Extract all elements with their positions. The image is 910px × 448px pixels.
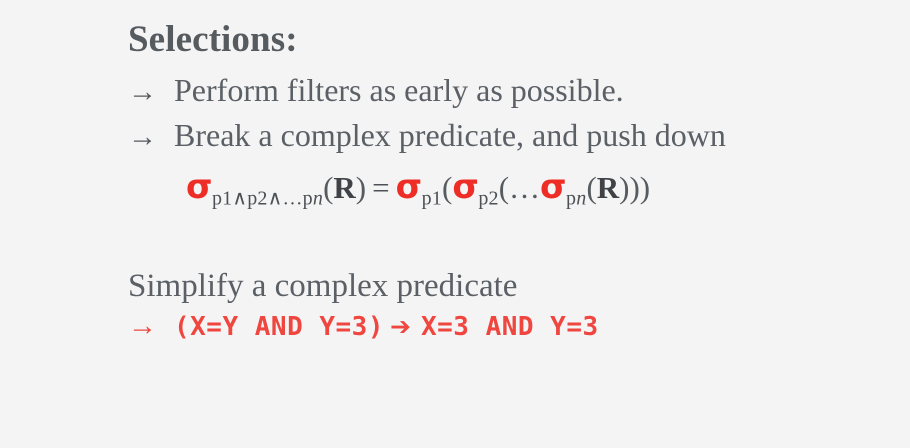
sigma-icon: σ bbox=[396, 167, 422, 207]
simplify-statement: Simplify a complex predicate bbox=[128, 265, 870, 308]
sigma-icon: σ bbox=[452, 167, 478, 207]
bullet-item-1-label: Perform filters as early as possible. bbox=[174, 68, 624, 113]
arrow-right-icon: → bbox=[128, 123, 174, 152]
bullet-item-2: → Break a complex predicate, and push do… bbox=[128, 113, 870, 158]
arrow-right-icon: → bbox=[128, 78, 174, 107]
implies-arrow-icon: ➔ bbox=[384, 312, 421, 341]
sigma-icon: σ bbox=[186, 167, 212, 207]
formula-rhs-subscript-1: p1 bbox=[422, 187, 442, 209]
sigma-icon: σ bbox=[540, 167, 566, 207]
section-spacer bbox=[128, 211, 870, 265]
slide-canvas: Selections: → Perform filters as early a… bbox=[0, 0, 910, 448]
formula-open-paren: ( bbox=[586, 170, 596, 205]
formula-relation: R bbox=[597, 170, 619, 205]
formula-ellipsis: … bbox=[509, 170, 540, 205]
formula-close-paren: ) bbox=[356, 170, 366, 205]
formula-open-paren: ( bbox=[323, 170, 333, 205]
predicate-simplification-example: → (X=Y AND Y=3) ➔ X=3 AND Y=3 bbox=[128, 312, 870, 342]
selection-pushdown-formula: σp1∧p2∧…pn(R)=σp1(σp2(…σpn(R))) bbox=[128, 165, 870, 211]
formula-equals: = bbox=[366, 170, 395, 205]
formula-open-paren: ( bbox=[442, 170, 452, 205]
formula-rhs-subscript-n: pn bbox=[566, 187, 586, 209]
formula-rhs-subscript-2: p2 bbox=[478, 187, 498, 209]
predicate-right-expression: X=3 AND Y=3 bbox=[421, 312, 599, 342]
formula-open-paren: ( bbox=[499, 170, 509, 205]
page-title: Selections: bbox=[128, 18, 870, 62]
formula-close-parens: ))) bbox=[619, 170, 650, 205]
arrow-right-icon: → bbox=[128, 312, 174, 341]
predicate-left-expression: (X=Y AND Y=3) bbox=[174, 312, 384, 342]
formula-lhs-subscript: p1∧p2∧…pn bbox=[212, 187, 323, 209]
bullet-item-1: → Perform filters as early as possible. bbox=[128, 68, 870, 113]
bullet-item-2-label: Break a complex predicate, and push down bbox=[174, 113, 726, 158]
formula-relation: R bbox=[333, 170, 355, 205]
